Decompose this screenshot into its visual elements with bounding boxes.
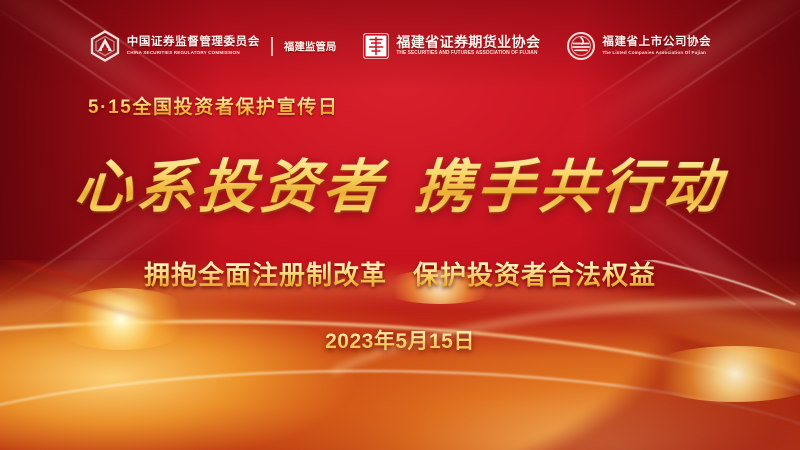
csrc-emblem-icon: [89, 30, 121, 62]
logo-csrc-text: 中国证券监督管理委员会 CHINA SECURITIES REGULATORY …: [127, 37, 260, 56]
logo-divider: [271, 37, 273, 56]
logo-csrc-name-en: CHINA SECURITIES REGULATORY COMMISSION: [127, 51, 260, 56]
sub-tagline: 拥抱全面注册制改革保护投资者合法权益: [0, 255, 800, 292]
headline-left: 心系投资者: [72, 153, 387, 221]
tagline-right: 保护投资者合法权益: [413, 260, 656, 290]
lcaf-circle-icon: [566, 31, 596, 61]
investor-protection-poster: 中国证券监督管理委员会 CHINA SECURITIES REGULATORY …: [0, 0, 800, 450]
campaign-kicker: 5·15全国投资者保护宣传日: [88, 92, 338, 119]
logo-lcaf: 福建省上市公司协会 The Listed Companies Associati…: [566, 31, 711, 61]
logo-lcaf-name-en: The Listed Companies Association Of Fuji…: [602, 51, 711, 56]
logo-lcaf-name-cn: 福建省上市公司协会: [602, 37, 711, 49]
tagline-left: 拥抱全面注册制改革: [144, 260, 387, 290]
headline-right: 携手共行动: [412, 153, 727, 221]
event-date: 2023年5月15日: [0, 325, 800, 355]
sponsor-logo-row: 中国证券监督管理委员会 CHINA SECURITIES REGULATORY …: [0, 30, 800, 62]
logo-sfaf-text: 福建省证券期货业协会 THE SECURITIES AND FUTURES AS…: [396, 35, 540, 56]
logo-sfaf-name-cn: 福建省证券期货业协会: [396, 35, 540, 49]
logo-csrc-subtag: 福建监管局: [284, 39, 337, 54]
main-headline: 心系投资者携手共行动: [0, 140, 800, 224]
logo-sfaf-name-en: THE SECURITIES AND FUTURES ASSOCIATION O…: [396, 52, 540, 57]
logo-sfaf: 福建省证券期货业协会 THE SECURITIES AND FUTURES AS…: [362, 32, 540, 60]
logo-lcaf-text: 福建省上市公司协会 The Listed Companies Associati…: [602, 37, 711, 56]
sfaf-seal-icon: [362, 32, 390, 60]
logo-csrc: 中国证券监督管理委员会 CHINA SECURITIES REGULATORY …: [89, 30, 337, 62]
logo-csrc-name-cn: 中国证券监督管理委员会: [127, 37, 260, 49]
